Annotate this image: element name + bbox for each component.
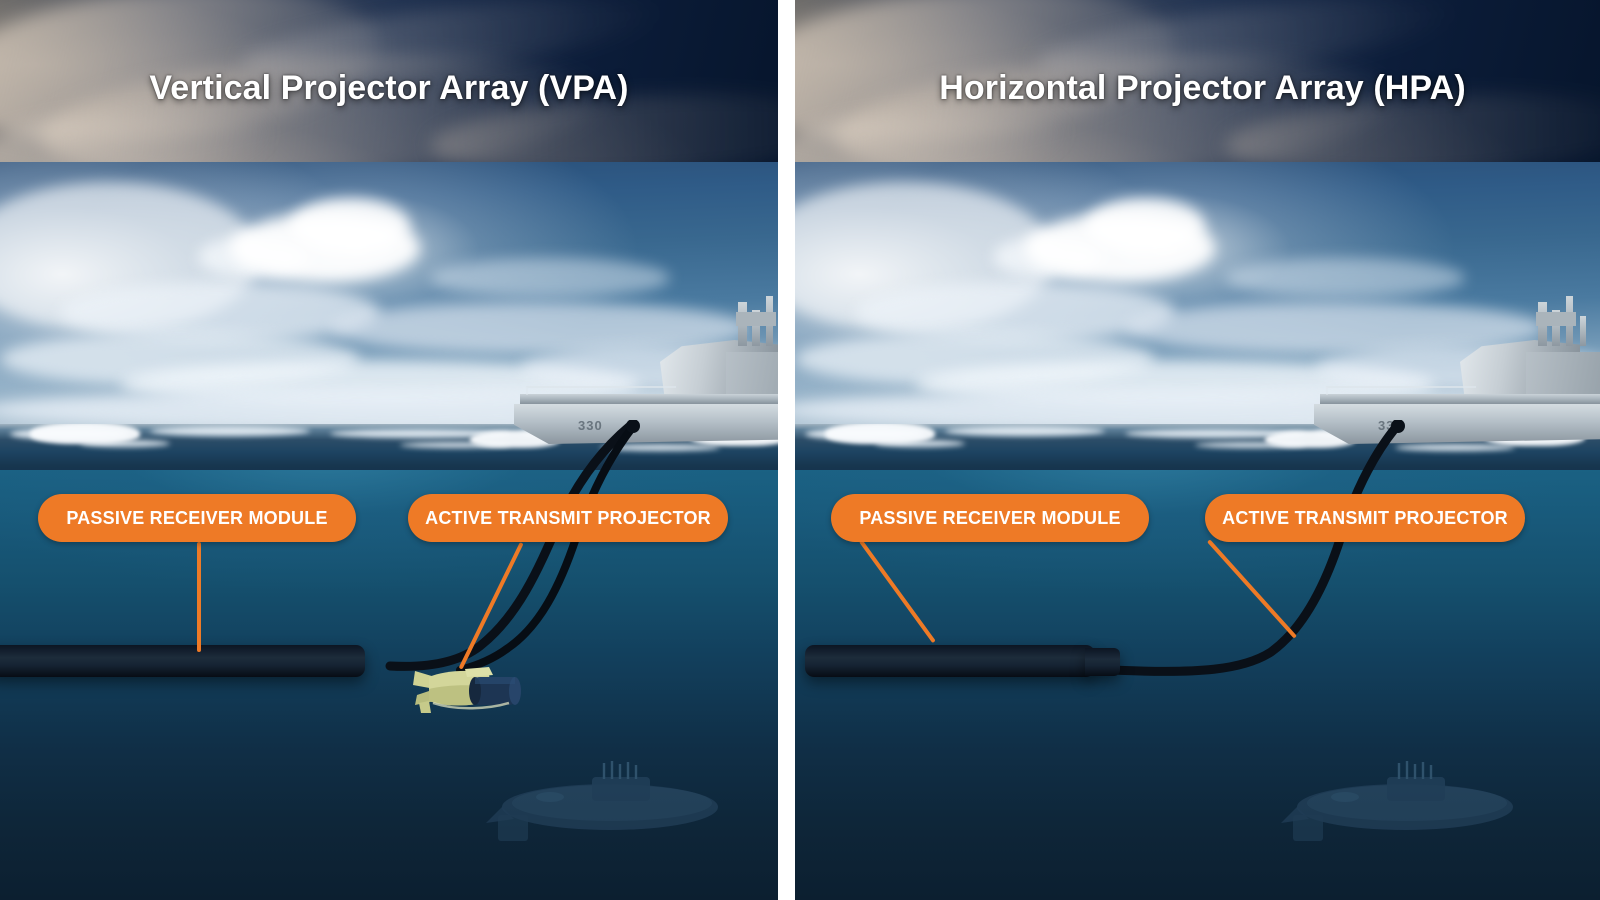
wave-crest: [690, 426, 778, 446]
wave-foam: [150, 426, 310, 436]
panel-vertical-projector-array: Vertical Projector Array (VPA): [0, 0, 778, 900]
callout-active-transmit-projector-hpa[interactable]: ACTIVE TRANSMIT PROJECTOR: [1205, 494, 1525, 542]
diagram-canvas: Vertical Projector Array (VPA): [0, 0, 1600, 900]
cloud-icon: [1225, 258, 1465, 298]
callout-label: PASSIVE RECEIVER MODULE: [859, 508, 1120, 529]
leader-line-passive-receiver-vpa: [197, 542, 201, 652]
horizontal-projector-inline-section-hpa: [1085, 648, 1120, 676]
cloud-icon: [1085, 198, 1205, 254]
panel-title-hpa: Horizontal Projector Array (HPA): [795, 0, 1600, 162]
wave-crest: [470, 430, 560, 448]
passive-receiver-towed-array-vpa: [0, 645, 365, 677]
wave-crest: [30, 424, 140, 444]
callout-passive-receiver-module-hpa[interactable]: PASSIVE RECEIVER MODULE: [831, 494, 1149, 542]
wave-crest: [825, 424, 935, 444]
cloud-icon: [1315, 346, 1600, 390]
callout-passive-receiver-module-vpa[interactable]: PASSIVE RECEIVER MODULE: [38, 494, 356, 542]
wave-crest: [1485, 426, 1585, 446]
callout-active-transmit-projector-vpa[interactable]: ACTIVE TRANSMIT PROJECTOR: [408, 494, 728, 542]
panel-title-vpa: Vertical Projector Array (VPA): [0, 0, 778, 162]
passive-receiver-towed-array-hpa: [805, 645, 1095, 677]
panel-horizontal-projector-array: Horizontal Projector Array (HPA): [795, 0, 1600, 900]
callout-label: ACTIVE TRANSMIT PROJECTOR: [1222, 508, 1508, 529]
wave-foam: [945, 426, 1105, 436]
callout-label: ACTIVE TRANSMIT PROJECTOR: [425, 508, 711, 529]
wave-foam: [600, 444, 720, 451]
panel-divider: [778, 0, 795, 900]
callout-label: PASSIVE RECEIVER MODULE: [66, 508, 327, 529]
wave-crest: [1265, 430, 1355, 448]
cloud-icon: [290, 198, 410, 254]
vertical-projector-towed-body-vpa: [405, 655, 525, 717]
cloud-icon: [430, 258, 670, 298]
wave-foam: [1395, 444, 1515, 451]
